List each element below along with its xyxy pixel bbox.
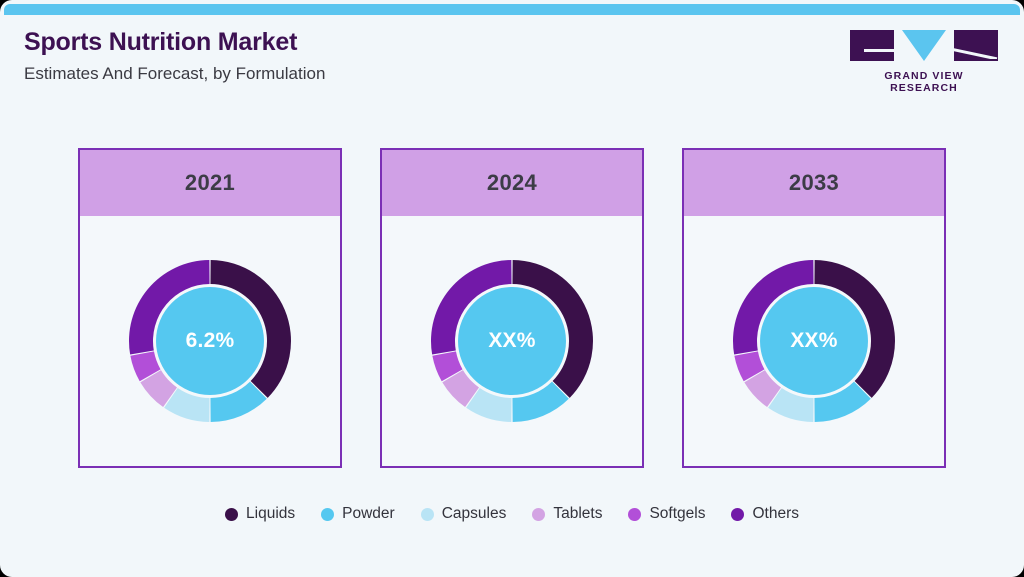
panel-year-label: 2021	[185, 170, 235, 196]
legend-item-softgels[interactable]: Softgels	[628, 505, 705, 523]
logo-g-block	[850, 30, 894, 61]
donut-chart-2033: XX%	[731, 258, 897, 424]
donut-center-value: 6.2%	[186, 329, 235, 353]
legend-label: Softgels	[649, 505, 705, 523]
legend-label: Capsules	[442, 505, 507, 523]
legend-item-powder[interactable]: Powder	[321, 505, 395, 523]
donut-center-value: XX%	[488, 329, 535, 353]
donut-center-circle: 6.2%	[156, 287, 264, 395]
logo-g-notch	[864, 49, 894, 52]
infographic-card: Sports Nutrition Market Estimates And Fo…	[0, 0, 1024, 577]
legend-item-liquids[interactable]: Liquids	[225, 505, 295, 523]
panel-body: XX%	[382, 216, 642, 466]
panel-2024: 2024XX%	[380, 148, 644, 468]
top-accent-bar	[4, 4, 1020, 15]
panel-header: 2021	[80, 150, 340, 216]
page-subtitle: Estimates And Forecast, by Formulation	[24, 61, 325, 87]
panel-header: 2024	[382, 150, 642, 216]
logo-triangle-icon	[902, 30, 946, 61]
legend-swatch-icon	[421, 508, 434, 521]
donut-center-value: XX%	[790, 329, 837, 353]
panel-2021: 20216.2%	[78, 148, 342, 468]
donut-center-circle: XX%	[760, 287, 868, 395]
legend-swatch-icon	[225, 508, 238, 521]
grand-view-research-logo: GRAND VIEW RESEARCH	[850, 30, 998, 86]
panel-group: 20216.2%2024XX%2033XX%	[78, 148, 946, 468]
donut-chart-2021: 6.2%	[127, 258, 293, 424]
panel-2033: 2033XX%	[682, 148, 946, 468]
chart-legend: LiquidsPowderCapsulesTabletsSoftgelsOthe…	[0, 505, 1024, 523]
logo-text: GRAND VIEW RESEARCH	[850, 70, 998, 94]
panel-year-label: 2033	[789, 170, 839, 196]
panel-year-label: 2024	[487, 170, 537, 196]
legend-label: Others	[752, 505, 799, 523]
header: Sports Nutrition Market Estimates And Fo…	[0, 15, 1024, 110]
logo-mark	[850, 30, 998, 62]
panel-body: 6.2%	[80, 216, 340, 466]
title-block: Sports Nutrition Market Estimates And Fo…	[24, 27, 325, 87]
legend-swatch-icon	[532, 508, 545, 521]
legend-label: Tablets	[553, 505, 602, 523]
donut-center-circle: XX%	[458, 287, 566, 395]
panel-body: XX%	[684, 216, 944, 466]
panel-header: 2033	[684, 150, 944, 216]
legend-label: Powder	[342, 505, 395, 523]
legend-item-others[interactable]: Others	[731, 505, 799, 523]
donut-chart-2024: XX%	[429, 258, 595, 424]
logo-r-notch	[954, 47, 998, 59]
page-title: Sports Nutrition Market	[24, 27, 325, 57]
legend-swatch-icon	[731, 508, 744, 521]
legend-swatch-icon	[321, 508, 334, 521]
legend-item-capsules[interactable]: Capsules	[421, 505, 507, 523]
legend-item-tablets[interactable]: Tablets	[532, 505, 602, 523]
legend-swatch-icon	[628, 508, 641, 521]
legend-label: Liquids	[246, 505, 295, 523]
